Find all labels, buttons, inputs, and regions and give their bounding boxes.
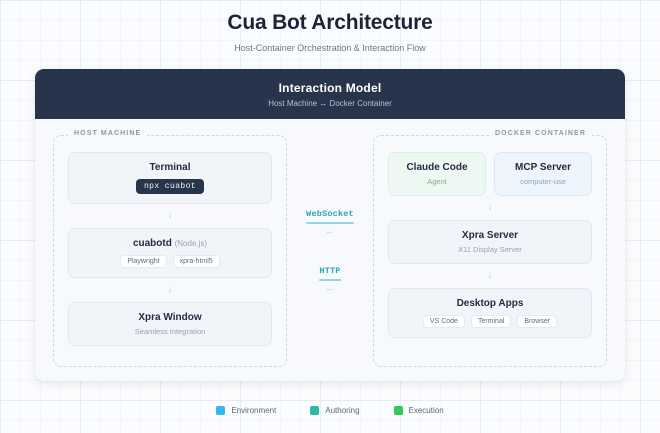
connector-column: WebSocket ↔ HTTP ↔ xyxy=(287,135,373,367)
node-xpra-server-title: Xpra Server xyxy=(397,230,583,241)
node-xpra-window-subtitle: Seamless Integration xyxy=(77,327,263,336)
page-header: Cua Bot Architecture Host-Container Orch… xyxy=(0,0,660,53)
host-machine-zone-label: HOST MACHINE xyxy=(68,130,147,137)
legend-label-authoring: Authoring xyxy=(325,406,359,415)
node-cuabotd-name: cuabotd xyxy=(133,238,172,249)
node-terminal-title: Terminal xyxy=(77,162,263,173)
connector-http: HTTP ↔ xyxy=(319,266,340,293)
legend-item-authoring: Authoring xyxy=(310,406,359,415)
docker-top-row: Claude Code Agent MCP Server computer-us… xyxy=(388,152,592,196)
node-mcp-server-title: MCP Server xyxy=(503,162,583,173)
legend-swatch-icon xyxy=(394,406,403,415)
node-claude-code-title: Claude Code xyxy=(397,162,477,173)
tag-terminal: Terminal xyxy=(471,315,511,328)
arrow-down-icon: ↓ xyxy=(488,271,493,281)
node-claude-code-subtitle: Agent xyxy=(397,177,477,186)
legend-label-execution: Execution xyxy=(409,406,444,415)
arrow-down-icon: ↓ xyxy=(168,285,173,295)
docker-container-zone: DOCKER CONTAINER Claude Code Agent MCP S… xyxy=(373,135,607,367)
bidirectional-arrow-icon: ↔ xyxy=(319,284,340,293)
connector-websocket-rule xyxy=(306,222,354,224)
board-header: Interaction Model Host Machine ↔ Docker … xyxy=(35,69,625,119)
node-cuabotd-tags: Playwright xpra-html5 xyxy=(77,255,263,268)
node-cuabotd[interactable]: cuabotd (Node.js) Playwright xpra-html5 xyxy=(68,228,272,278)
legend-item-environment: Environment xyxy=(216,406,276,415)
host-machine-zone: HOST MACHINE Terminal npx cuabot ↓ cuabo… xyxy=(53,135,287,367)
legend-label-environment: Environment xyxy=(231,406,276,415)
node-mcp-server-subtitle: computer-use xyxy=(503,177,583,186)
node-desktop-apps-title: Desktop Apps xyxy=(397,298,583,309)
terminal-command-chip: npx cuabot xyxy=(136,179,204,194)
architecture-board: Interaction Model Host Machine ↔ Docker … xyxy=(35,69,625,381)
board-body: HOST MACHINE Terminal npx cuabot ↓ cuabo… xyxy=(35,119,625,381)
legend-item-execution: Execution xyxy=(394,406,444,415)
page-title: Cua Bot Architecture xyxy=(0,11,660,35)
bidirectional-arrow-icon: ↔ xyxy=(306,227,354,236)
node-terminal[interactable]: Terminal npx cuabot xyxy=(68,152,272,204)
node-desktop-apps-tags: VS Code Terminal Browser xyxy=(397,315,583,328)
legend: Environment Authoring Execution xyxy=(0,406,660,415)
node-xpra-server[interactable]: Xpra Server X11 Display Server xyxy=(388,220,592,264)
node-mcp-server[interactable]: MCP Server computer-use xyxy=(494,152,592,196)
node-desktop-apps[interactable]: Desktop Apps VS Code Terminal Browser xyxy=(388,288,592,338)
docker-container-zone-label: DOCKER CONTAINER xyxy=(489,130,592,137)
connector-websocket-label: WebSocket xyxy=(306,209,354,219)
connector-websocket: WebSocket ↔ xyxy=(306,209,354,236)
board-header-title: Interaction Model xyxy=(279,81,382,95)
node-xpra-window-title: Xpra Window xyxy=(77,312,263,323)
node-xpra-window[interactable]: Xpra Window Seamless Integration xyxy=(68,302,272,346)
legend-swatch-icon xyxy=(310,406,319,415)
arrow-down-icon: ↓ xyxy=(488,203,493,213)
node-xpra-server-subtitle: X11 Display Server xyxy=(397,245,583,254)
tag-xpra-html5: xpra-html5 xyxy=(173,255,220,268)
tag-playwright: Playwright xyxy=(120,255,166,268)
page-subtitle: Host-Container Orchestration & Interacti… xyxy=(0,43,660,53)
node-cuabotd-runtime: (Node.js) xyxy=(175,239,207,248)
board-header-subtitle: Host Machine ↔ Docker Container xyxy=(268,99,392,108)
arrow-down-icon: ↓ xyxy=(168,211,173,221)
connector-http-label: HTTP xyxy=(319,266,340,276)
tag-browser: Browser xyxy=(517,315,557,328)
node-claude-code[interactable]: Claude Code Agent xyxy=(388,152,486,196)
legend-swatch-icon xyxy=(216,406,225,415)
node-cuabotd-title: cuabotd (Node.js) xyxy=(77,238,263,249)
connector-http-rule xyxy=(319,279,340,281)
tag-vs-code: VS Code xyxy=(423,315,465,328)
